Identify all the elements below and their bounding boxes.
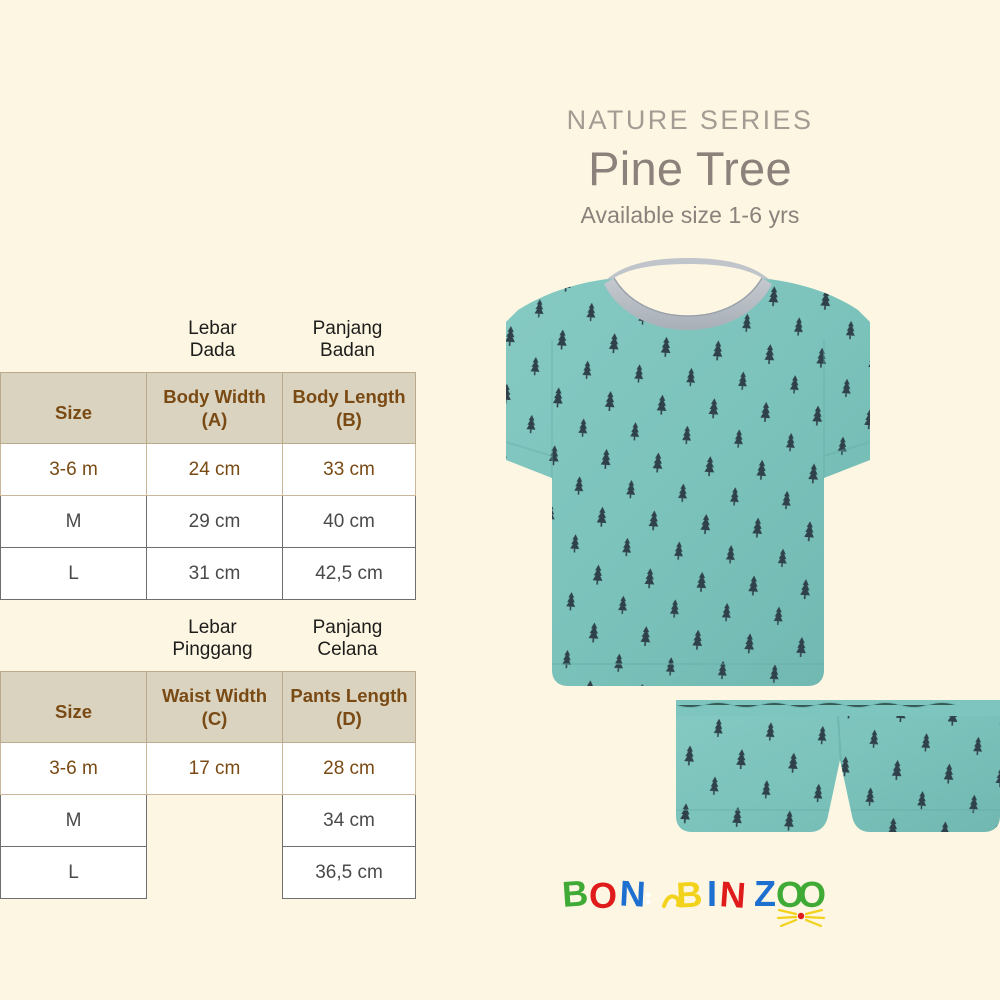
table-row: M 29 cm 40 cm — [1, 496, 416, 548]
cell-waist-width-empty — [147, 847, 283, 899]
cell-size: 3-6 m — [1, 444, 147, 496]
logo-letter-o1: O — [589, 875, 617, 916]
logo-letter-i: I — [707, 873, 717, 914]
column-header-waist-width: Waist Width (C) — [147, 672, 283, 743]
table-row: M 34 cm — [1, 795, 416, 847]
logo-letter-o3: O — [798, 874, 825, 915]
bottom-garment-size-table: Size Waist Width (C) Pants Length (D) 3-… — [0, 671, 416, 899]
column-header-size: Size — [1, 373, 147, 444]
table-row: L 36,5 cm — [1, 847, 416, 899]
caption-body-width: Lebar Dada — [145, 318, 280, 363]
cell-pants-length: 34 cm — [283, 795, 416, 847]
column-header-pants-length: Pants Length (D) — [283, 672, 416, 743]
brand-logo: B O N B I N Z O O — [560, 868, 825, 930]
page-title: Pine Tree — [500, 140, 880, 197]
top-table-captions: Lebar Dada Panjang Badan — [0, 318, 415, 363]
cell-pants-length: 36,5 cm — [283, 847, 416, 899]
tshirt-garment — [490, 258, 890, 700]
table-header-row: Size Body Width (A) Body Length (B) — [1, 373, 416, 444]
cell-body-width: 29 cm — [147, 496, 283, 548]
cell-body-length: 33 cm — [283, 444, 416, 496]
cell-size: L — [1, 548, 147, 600]
logo-letter-b1: B — [561, 872, 590, 915]
logo-letter-n1: N — [619, 872, 647, 914]
series-label: NATURE SERIES — [500, 105, 880, 136]
cell-waist-width-empty — [147, 795, 283, 847]
cell-body-length: 42,5 cm — [283, 548, 416, 600]
product-photo: B — [400, 250, 1000, 870]
availability-label: Available size 1-6 yrs — [500, 202, 880, 229]
caption-body-length: Panjang Badan — [280, 318, 415, 363]
cell-size: M — [1, 496, 147, 548]
column-header-body-length: Body Length (B) — [283, 373, 416, 444]
logo-letter-z: Z — [754, 873, 776, 914]
cell-size: 3-6 m — [1, 743, 147, 795]
table-row: L 31 cm 42,5 cm — [1, 548, 416, 600]
column-header-body-width: Body Width (A) — [147, 373, 283, 444]
table-row: 3-6 m 24 cm 33 cm — [1, 444, 416, 496]
column-header-size: Size — [1, 672, 147, 743]
cell-waist-width: 17 cm — [147, 743, 283, 795]
caption-waist-width: Lebar Pinggang — [145, 617, 280, 662]
size-chart-canvas: B N — [0, 0, 1000, 1000]
cell-body-length: 40 cm — [283, 496, 416, 548]
header-block: NATURE SERIES Pine Tree Available size 1… — [500, 105, 880, 229]
logo-letter-b2: B — [675, 873, 703, 915]
logo-letter-n2: N — [718, 873, 747, 916]
caption-pants-length: Panjang Celana — [280, 617, 415, 662]
cell-body-width: 31 cm — [147, 548, 283, 600]
cell-size: L — [1, 847, 147, 899]
cell-size: M — [1, 795, 147, 847]
table-row: 3-6 m 17 cm 28 cm — [1, 743, 416, 795]
top-garment-size-table: Size Body Width (A) Body Length (B) 3-6 … — [0, 372, 416, 600]
table-header-row: Size Waist Width (C) Pants Length (D) — [1, 672, 416, 743]
logo-nose-accent — [798, 913, 804, 919]
cell-body-width: 24 cm — [147, 444, 283, 496]
bottom-table-captions: Lebar Pinggang Panjang Celana — [0, 617, 415, 662]
cell-pants-length: 28 cm — [283, 743, 416, 795]
